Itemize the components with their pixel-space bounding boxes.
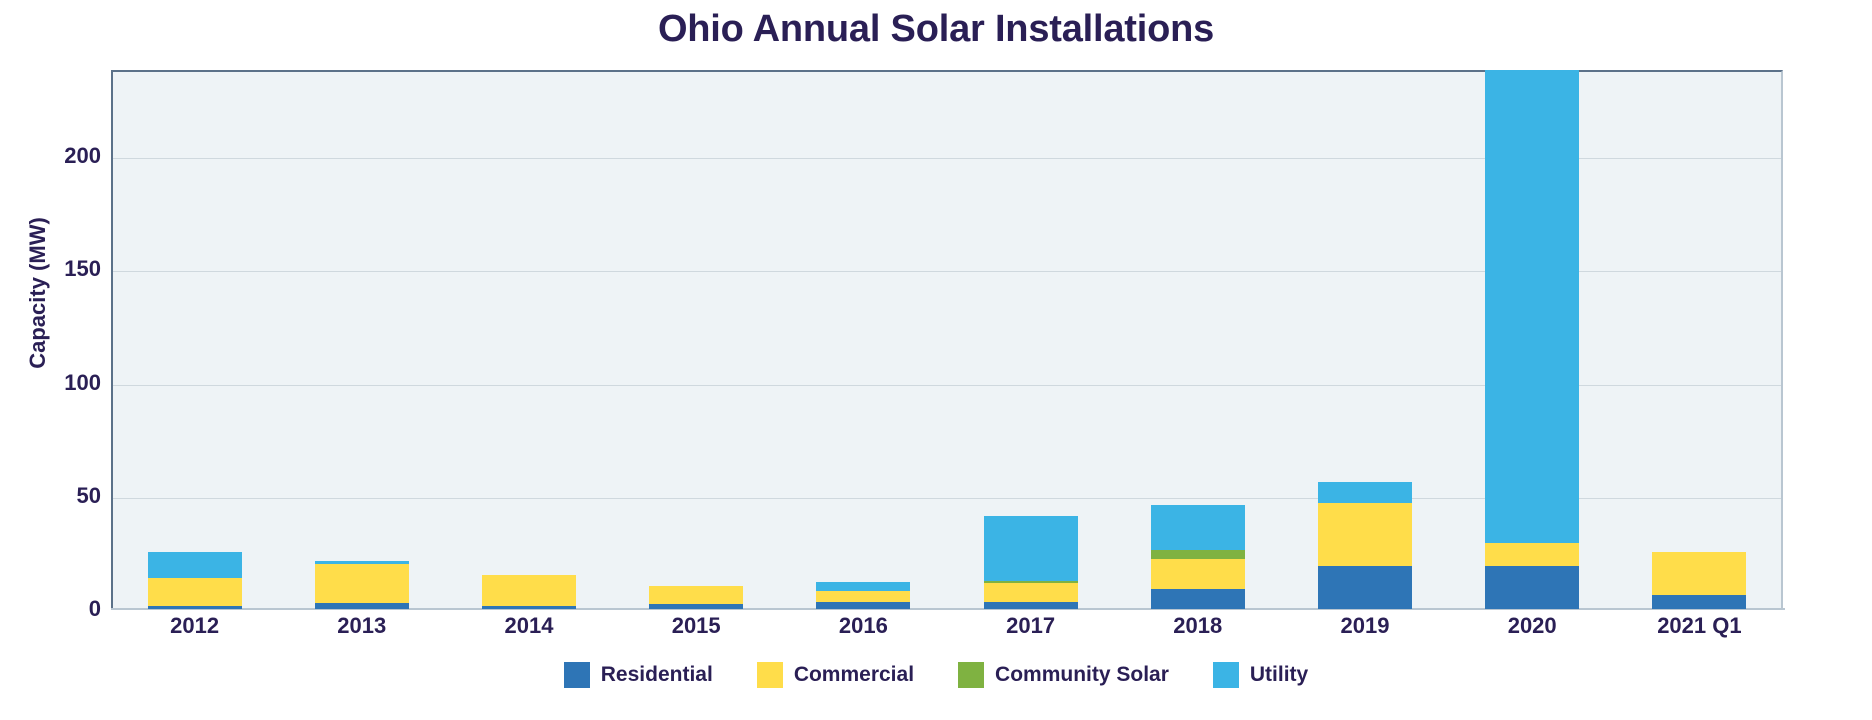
bar-segment-commercial[interactable] (482, 575, 576, 606)
bar-group[interactable] (1151, 70, 1245, 609)
bar-segment-commercial[interactable] (315, 564, 409, 604)
bar-segment-residential[interactable] (816, 602, 910, 609)
legend-item-commercial[interactable]: Commercial (757, 662, 914, 688)
chart-title: Ohio Annual Solar Installations (0, 8, 1872, 51)
bar-segment-utility[interactable] (816, 582, 910, 591)
bar-group[interactable] (315, 70, 409, 609)
bar-segment-residential[interactable] (649, 604, 743, 609)
bar-segment-residential[interactable] (1485, 566, 1579, 609)
bar-segment-residential[interactable] (1151, 589, 1245, 609)
y-tick-label: 200 (11, 143, 101, 169)
bar-stack[interactable] (148, 552, 242, 609)
legend-swatch-icon (1213, 662, 1239, 688)
bars-layer (111, 70, 1783, 609)
bar-group[interactable] (816, 70, 910, 609)
bar-segment-utility[interactable] (148, 552, 242, 578)
bar-segment-residential[interactable] (482, 606, 576, 609)
legend-swatch-icon (564, 662, 590, 688)
x-tick-label: 2012 (111, 613, 278, 639)
bar-group[interactable] (1485, 70, 1579, 609)
y-axis-ticks: 050100150200 (0, 0, 101, 720)
legend-item-community-solar[interactable]: Community Solar (958, 662, 1169, 688)
bar-segment-residential[interactable] (1318, 566, 1412, 609)
x-tick-label: 2013 (278, 613, 445, 639)
bar-segment-commercial[interactable] (1318, 503, 1412, 566)
bar-stack[interactable] (482, 575, 576, 609)
bar-segment-commercial[interactable] (1652, 552, 1746, 595)
bar-segment-utility[interactable] (1485, 70, 1579, 543)
x-tick-label: 2019 (1281, 613, 1448, 639)
bar-stack[interactable] (816, 582, 910, 609)
bar-group[interactable] (649, 70, 743, 609)
bar-segment-utility[interactable] (1318, 482, 1412, 502)
bar-segment-commercial[interactable] (649, 586, 743, 604)
x-tick-label: 2018 (1114, 613, 1281, 639)
legend-label: Commercial (794, 663, 914, 687)
bar-stack[interactable] (1318, 482, 1412, 609)
legend-label: Community Solar (995, 663, 1169, 687)
x-axis-ticks: 2012201320142015201620172018201920202021… (111, 613, 1783, 647)
bar-segment-residential[interactable] (315, 603, 409, 609)
bar-stack[interactable] (1151, 505, 1245, 609)
y-tick-label: 150 (11, 256, 101, 282)
legend-item-residential[interactable]: Residential (564, 662, 713, 688)
x-tick-label: 2020 (1449, 613, 1616, 639)
bar-segment-commercial[interactable] (984, 583, 1078, 602)
bar-group[interactable] (482, 70, 576, 609)
bar-segment-residential[interactable] (984, 602, 1078, 609)
bar-segment-community-solar[interactable] (1151, 550, 1245, 559)
bar-segment-commercial[interactable] (1485, 543, 1579, 566)
x-tick-label: 2016 (780, 613, 947, 639)
legend-swatch-icon (958, 662, 984, 688)
legend-item-utility[interactable]: Utility (1213, 662, 1308, 688)
bar-stack[interactable] (315, 561, 409, 609)
bar-group[interactable] (984, 70, 1078, 609)
legend-swatch-icon (757, 662, 783, 688)
bar-segment-residential[interactable] (1652, 595, 1746, 609)
bar-stack[interactable] (1485, 70, 1579, 609)
x-tick-label: 2021 Q1 (1616, 613, 1783, 639)
y-tick-label: 50 (11, 483, 101, 509)
y-tick-label: 100 (11, 370, 101, 396)
bar-segment-commercial[interactable] (816, 591, 910, 602)
bar-stack[interactable] (1652, 552, 1746, 609)
chart-container: Ohio Annual Solar Installations Capacity… (0, 0, 1872, 720)
bar-segment-commercial[interactable] (1151, 559, 1245, 588)
x-tick-label: 2017 (947, 613, 1114, 639)
bar-group[interactable] (1652, 70, 1746, 609)
bar-segment-commercial[interactable] (148, 578, 242, 605)
bar-group[interactable] (148, 70, 242, 609)
bar-stack[interactable] (649, 586, 743, 609)
bar-segment-residential[interactable] (148, 606, 242, 609)
legend-label: Utility (1250, 663, 1308, 687)
y-tick-label: 0 (11, 596, 101, 622)
x-tick-label: 2015 (613, 613, 780, 639)
bar-stack[interactable] (984, 516, 1078, 609)
chart-legend: ResidentialCommercialCommunity SolarUtil… (0, 662, 1872, 688)
legend-label: Residential (601, 663, 713, 687)
x-tick-label: 2014 (445, 613, 612, 639)
bar-segment-utility[interactable] (1151, 505, 1245, 550)
bar-segment-utility[interactable] (984, 516, 1078, 581)
bar-group[interactable] (1318, 70, 1412, 609)
